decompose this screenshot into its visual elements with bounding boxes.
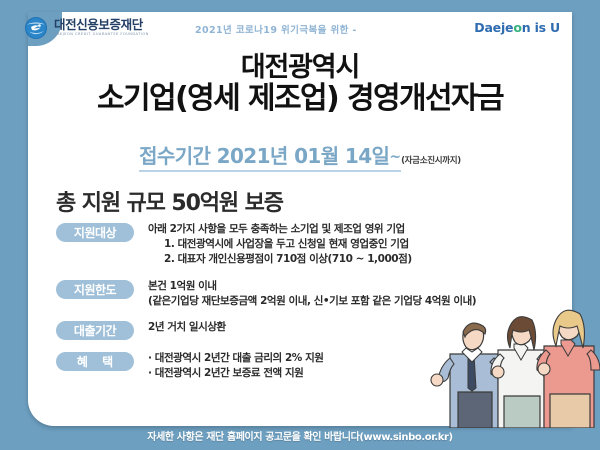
- title-line-2: 소기업(영세 제조업) 경영개선자금: [0, 84, 600, 114]
- detail-rows: 지원대상 아래 2가지 사항을 모두 충족하는 소기업 및 제조업 영위 기업 …: [56, 222, 570, 393]
- application-period-note: (자금소진시까지): [401, 156, 461, 166]
- eligibility-sub-1: 1. 대전광역시에 사업장을 두고 신청일 현재 영업중인 기업: [148, 237, 570, 252]
- loan-term-lead: 2년 거치 일시상환: [148, 320, 570, 335]
- detail-row-limit-body: 본건 1억원 이내 (같은기업당 재단보증금액 2억원 이내, 신•기보 포함 …: [148, 279, 570, 309]
- application-period-underlined: 접수기간 2021년 01월 14일~: [139, 140, 401, 172]
- detail-row-benefits-body: · 대전광역시 2년간 대출 금리의 2% 지원 · 대전광역시 2년간 보증료…: [148, 351, 570, 381]
- footer-note: 자세한 사항은 재단 홈페이지 공고문을 확인 바랍니다(www.sinbo.o…: [0, 428, 600, 443]
- detail-row-limit: 지원한도 본건 1억원 이내 (같은기업당 재단보증금액 2억원 이내, 신•기…: [56, 279, 570, 309]
- detail-row-loan-term: 대출기간 2년 거치 일시상환: [56, 320, 570, 340]
- total-support-scale: 총 지원 규모 50억원 보증: [56, 185, 283, 217]
- foundation-name-en: DAEJEON CREDIT GUARANTEE FOUNDATION: [54, 33, 149, 37]
- poster-header: 대전신용보증재단 DAEJEON CREDIT GUARANTEE FOUNDA…: [0, 14, 600, 48]
- detail-row-eligibility-body: 아래 2가지 사항을 모두 충족하는 소기업 및 제조업 영위 기업 1. 대전…: [148, 222, 570, 268]
- brand-accent-o: o: [513, 20, 521, 35]
- badge-loan-term: 대출기간: [56, 321, 134, 340]
- poster-root: 대전신용보증재단 DAEJEON CREDIT GUARANTEE FOUNDA…: [0, 0, 600, 450]
- detail-row-eligibility: 지원대상 아래 2가지 사항을 모두 충족하는 소기업 및 제조업 영위 기업 …: [56, 222, 570, 268]
- application-period: 접수기간 2021년 01월 14일~(자금소진시까지): [0, 140, 600, 172]
- foundation-logo: 대전신용보증재단 DAEJEON CREDIT GUARANTEE FOUNDA…: [24, 16, 149, 40]
- detail-row-loan-term-body: 2년 거치 일시상환: [148, 320, 570, 335]
- limit-lead: 본건 1억원 이내: [148, 279, 570, 294]
- limit-extra: (같은기업당 재단보증금액 2억원 이내, 신•기보 포함 같은 기업당 4억원…: [148, 294, 570, 309]
- benefit-bullet-1: · 대전광역시 2년간 대출 금리의 2% 지원: [148, 351, 570, 366]
- application-period-text: 접수기간 2021년 01월 14일: [139, 144, 389, 168]
- brand-suffix: n is U: [522, 20, 560, 35]
- badge-eligibility: 지원대상: [56, 223, 134, 242]
- eligibility-lead: 아래 2가지 사항을 모두 충족하는 소기업 및 제조업 영위 기업: [148, 222, 570, 237]
- foundation-logo-text: 대전신용보증재단 DAEJEON CREDIT GUARANTEE FOUNDA…: [54, 19, 149, 37]
- header-slogan: 2021년 코로나19 위기극복을 위한 -: [195, 22, 357, 36]
- brand-prefix: Daeje: [474, 20, 513, 35]
- benefit-bullet-2: · 대전광역시 2년간 보증료 전액 지원: [148, 366, 570, 381]
- foundation-name-ko: 대전신용보증재단: [54, 19, 149, 32]
- detail-row-benefits: 혜 택 · 대전광역시 2년간 대출 금리의 2% 지원 · 대전광역시 2년간…: [56, 351, 570, 381]
- daejeon-is-u-brand: Daejeon is U: [474, 20, 560, 35]
- application-period-tilde: ~: [389, 149, 401, 165]
- foundation-logo-icon: [24, 16, 48, 40]
- title-line-1: 대전광역시: [0, 54, 600, 81]
- badge-limit: 지원한도: [56, 280, 134, 299]
- eligibility-sub-2: 2. 대표자 개인신용평점이 710점 이상(710 ~ 1,000점): [148, 252, 570, 267]
- badge-benefits: 혜 택: [56, 352, 134, 371]
